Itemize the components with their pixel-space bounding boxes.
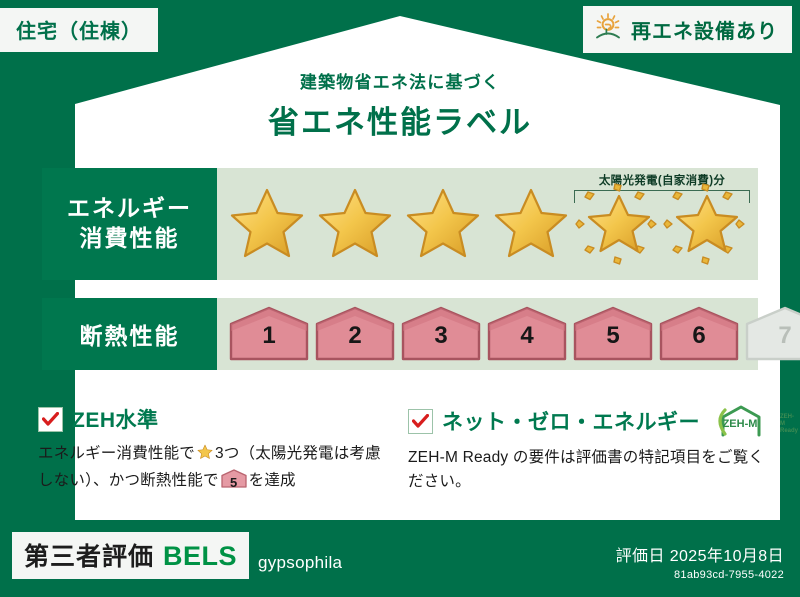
note-zeh-header: ZEH水準 bbox=[38, 404, 384, 434]
red-check-icon bbox=[408, 409, 433, 434]
star-filled bbox=[223, 180, 311, 268]
notes-section: ZEH水準 エネルギー消費性能で3つ（太陽光発電は考慮しない）、かつ断熱性能で5… bbox=[38, 404, 768, 494]
bels-energy-label: 住宅（住棟） 再エネ設備あり 建築 bbox=[0, 0, 800, 597]
insulation-level-value: 6 bbox=[657, 322, 741, 350]
footer-evaluation-date: 評価日 2025年10月8日 bbox=[616, 542, 784, 566]
badge-renewable-equipment: 再エネ設備あり bbox=[583, 6, 792, 53]
energy-performance-row: エネルギー 消費性能 太陽光発電(自家消費)分 bbox=[42, 168, 758, 280]
footer-owner-name: gypsophila bbox=[258, 553, 342, 573]
energy-label-line2: 消費性能 bbox=[80, 224, 180, 254]
insulation-label-text: 断熱性能 bbox=[80, 317, 180, 351]
insulation-level-value: 4 bbox=[485, 322, 569, 350]
note-zeh-body: エネルギー消費性能で3つ（太陽光発電は考慮しない）、かつ断熱性能で5を達成 bbox=[38, 442, 384, 493]
inline-house-value: 5 bbox=[221, 473, 247, 493]
zeh-m-logo-icon: ZEH-M bbox=[713, 404, 769, 438]
footer-evaluation-id: 81ab93cd-7955-4022 bbox=[616, 569, 784, 581]
insulation-level-value: 2 bbox=[313, 322, 397, 350]
energy-star-rating bbox=[223, 180, 751, 268]
page-title: 建築物省エネ法に基づく 省エネ性能ラベル bbox=[0, 68, 800, 142]
note-nze-header: ネット・ゼロ・エネルギー ZEH-M ZEH-M Ready bbox=[408, 404, 768, 438]
note-zeh-body-post: を達成 bbox=[249, 472, 296, 489]
zeh-m-ready-sublabel: ZEH-M Ready bbox=[780, 414, 798, 435]
star-filled-solar bbox=[575, 180, 663, 268]
red-check-icon bbox=[38, 407, 63, 432]
insulation-level-scale: 1234567 bbox=[227, 305, 800, 363]
badge-building-type: 住宅（住棟） bbox=[0, 8, 158, 52]
badge-renewable-label: 再エネ設備あり bbox=[631, 15, 778, 44]
inline-house-badge: 5 bbox=[221, 469, 247, 488]
sun-solar-icon bbox=[593, 12, 623, 47]
note-zeh-standard: ZEH水準 エネルギー消費性能で3つ（太陽光発電は考慮しない）、かつ断熱性能で5… bbox=[38, 404, 384, 494]
insulation-level-active: 6 bbox=[657, 305, 741, 363]
insulation-level-active: 4 bbox=[485, 305, 569, 363]
insulation-level-active: 3 bbox=[399, 305, 483, 363]
star-filled bbox=[487, 180, 575, 268]
insulation-level-value: 3 bbox=[399, 322, 483, 350]
insulation-performance-label: 断熱性能 bbox=[42, 298, 217, 370]
insulation-level-active: 5 bbox=[571, 305, 655, 363]
note-zeh-title: ZEH水準 bbox=[72, 404, 159, 434]
energy-performance-label: エネルギー 消費性能 bbox=[42, 168, 217, 280]
star-filled bbox=[311, 180, 399, 268]
note-net-zero-energy: ネット・ゼロ・エネルギー ZEH-M ZEH-M Ready ZEH-M Rea… bbox=[408, 404, 768, 494]
title-subtitle: 建築物省エネ法に基づく bbox=[0, 68, 800, 93]
insulation-level-value: 1 bbox=[227, 322, 311, 350]
gold-star-icon bbox=[196, 443, 214, 469]
note-nze-body: ZEH-M Ready の要件は評価書の特記項目をご覧ください。 bbox=[408, 446, 768, 494]
energy-label-line1: エネルギー bbox=[67, 194, 192, 224]
footer-bels-badge: 第三者評価 BELS bbox=[12, 532, 249, 579]
footer-evaluation-info: 評価日 2025年10月8日 81ab93cd-7955-4022 bbox=[616, 542, 784, 581]
insulation-level-value: 7 bbox=[743, 322, 800, 350]
badge-building-type-label: 住宅（住棟） bbox=[16, 21, 142, 43]
star-filled-solar bbox=[663, 180, 751, 268]
insulation-level-panel: 1234567 bbox=[217, 298, 758, 370]
insulation-level-value: 5 bbox=[571, 322, 655, 350]
insulation-level-active: 2 bbox=[313, 305, 397, 363]
footer-third-party-label: 第三者評価 bbox=[24, 537, 154, 573]
footer-bels-label: BELS bbox=[163, 541, 237, 572]
insulation-level-inactive: 7 bbox=[743, 305, 800, 363]
note-zeh-body-pre: エネルギー消費性能で bbox=[38, 445, 195, 462]
energy-star-panel: 太陽光発電(自家消費)分 bbox=[217, 168, 758, 280]
title-main: 省エネ性能ラベル bbox=[0, 97, 800, 142]
insulation-performance-row: 断熱性能 1234567 bbox=[42, 298, 758, 370]
svg-text:ZEH-M: ZEH-M bbox=[723, 418, 758, 430]
star-filled bbox=[399, 180, 487, 268]
note-nze-title: ネット・ゼロ・エネルギー bbox=[442, 406, 700, 436]
insulation-level-active: 1 bbox=[227, 305, 311, 363]
